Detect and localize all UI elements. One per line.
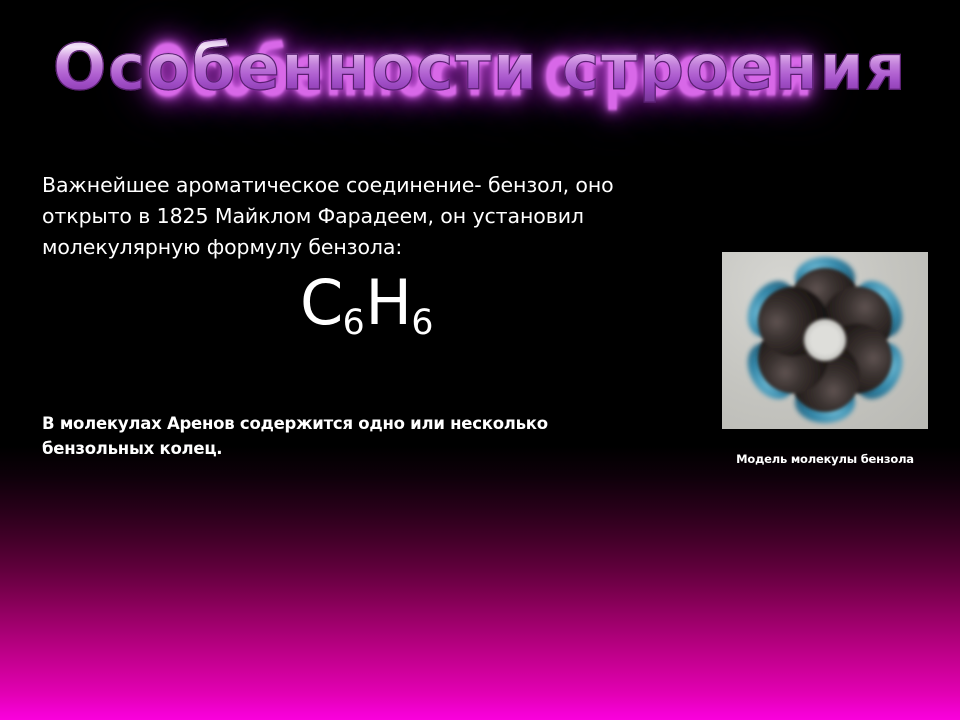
arenes-note-paragraph: В молекулах Аренов содержится одно или н… xyxy=(42,411,582,461)
benzene-model-image xyxy=(722,252,928,429)
slide-root: Особенности строения Особенности строени… xyxy=(0,0,960,720)
formula-subscript-carbon: 6 xyxy=(343,303,365,343)
formula-element-hydrogen: H xyxy=(365,266,412,339)
ring-center-hole xyxy=(804,319,846,361)
figure-caption: Модель молекулы бензола xyxy=(722,452,928,466)
benzene-formula: C6H6 xyxy=(300,272,434,334)
intro-paragraph: Важнейшее ароматическое соединение- бенз… xyxy=(42,170,682,263)
formula-element-carbon: C xyxy=(300,266,343,339)
formula-subscript-hydrogen: 6 xyxy=(411,303,433,343)
benzene-model-illustration xyxy=(722,252,928,429)
